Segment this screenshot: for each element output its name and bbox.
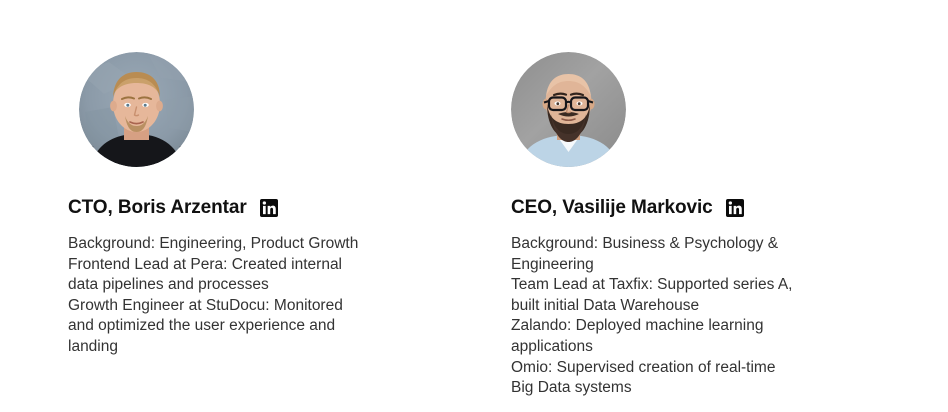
bio-line: Background: Engineering, Product Growth — [68, 234, 413, 255]
bio-line: and optimized the user experience and — [68, 316, 413, 337]
bio-line: landing — [68, 337, 413, 358]
bio-line: Background: Business & Psychology & — [511, 234, 861, 255]
bio-line: built initial Data Warehouse — [511, 296, 861, 317]
bio-line: Growth Engineer at StuDocu: Monitored — [68, 296, 413, 317]
bio-line: data pipelines and processes — [68, 275, 413, 296]
bio-line: Zalando: Deployed machine learning — [511, 316, 861, 337]
avatar — [79, 52, 194, 167]
profile-card-ceo: CEO, Vasilije Markovic Background: Busin… — [511, 0, 911, 167]
profile-card-cto: CTO, Boris Arzentar Background: Engineer… — [68, 0, 468, 167]
profile-name-row: CEO, Vasilije Markovic — [511, 196, 744, 220]
profile-bio: Background: Business & Psychology & Engi… — [511, 234, 861, 399]
bio-line: Frontend Lead at Pera: Created internal — [68, 255, 413, 276]
bio-line: Omio: Supervised creation of real-time — [511, 358, 861, 379]
profile-name: CEO, Vasilije Markovic — [511, 196, 713, 220]
profile-name-row: CTO, Boris Arzentar — [68, 196, 278, 220]
bio-line: Engineering — [511, 255, 861, 276]
bio-line: Big Data systems — [511, 378, 861, 399]
avatar — [511, 52, 626, 167]
linkedin-icon[interactable] — [260, 199, 278, 217]
linkedin-icon[interactable] — [726, 199, 744, 217]
bio-line: applications — [511, 337, 861, 358]
profile-bio: Background: Engineering, Product Growth … — [68, 234, 413, 358]
team-profiles-section: CTO, Boris Arzentar Background: Engineer… — [0, 0, 948, 412]
bio-line: Team Lead at Taxfix: Supported series A, — [511, 275, 861, 296]
profile-name: CTO, Boris Arzentar — [68, 196, 247, 220]
